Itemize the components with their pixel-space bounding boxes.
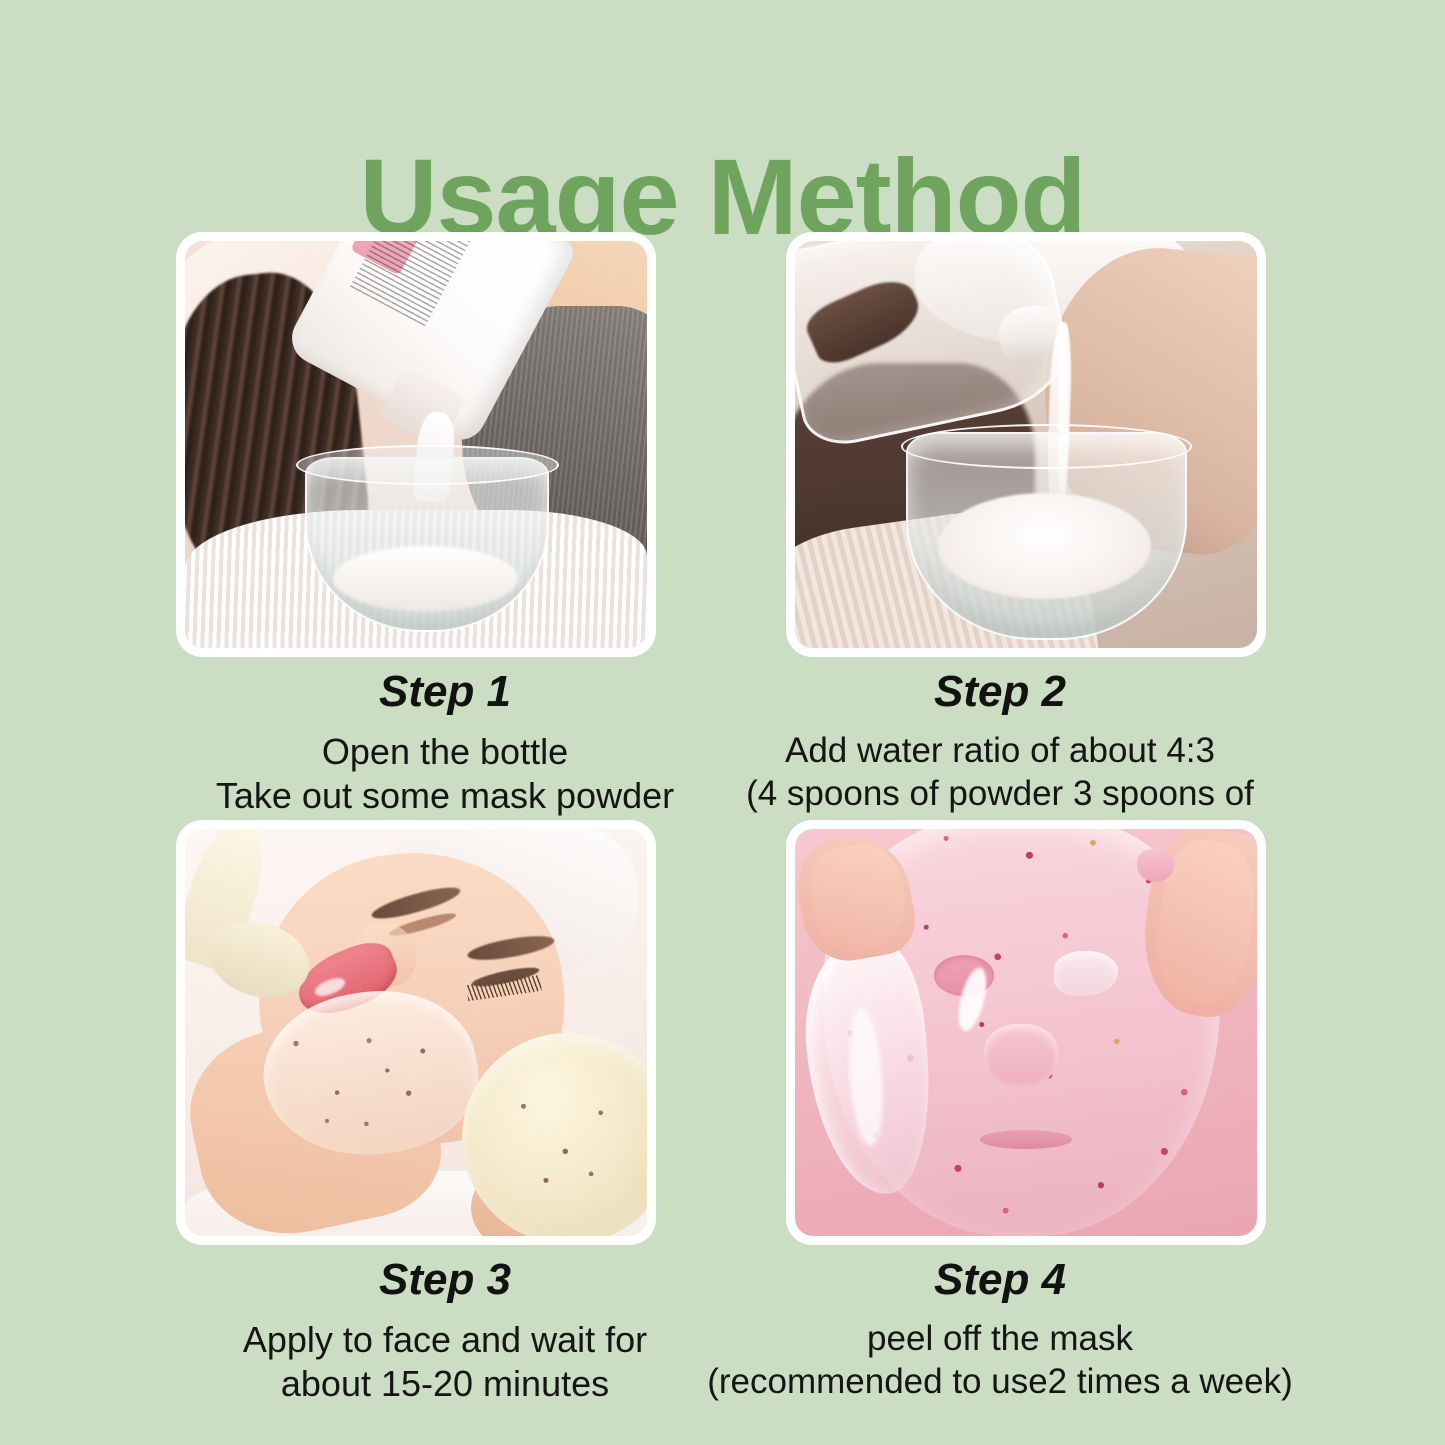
- pitcher-interior: [801, 270, 928, 369]
- mask-nose-hole: [984, 1024, 1058, 1085]
- step-3-photo-frame: [176, 820, 656, 1245]
- step-1-caption: Step 1 Open the bottle Take out some mas…: [145, 668, 745, 818]
- step-4-label: Step 4: [700, 1256, 1300, 1304]
- step-3-photo: [185, 829, 647, 1236]
- step-2-photo-frame: [786, 232, 1266, 657]
- step-4-photo: [795, 829, 1257, 1236]
- glass-bowl-rim: [296, 445, 559, 486]
- step-4-caption: Step 4 peel off the mask (recommended to…: [700, 1256, 1300, 1404]
- steps-grid: BULGARIAN ROSE JELLY MASK WHITEN & IMPRO…: [0, 232, 1445, 1432]
- bottle-fineprint: [349, 241, 480, 326]
- fingernail: [1137, 849, 1174, 882]
- bowl-powder: [333, 546, 518, 611]
- step-3-label: Step 3: [145, 1256, 745, 1304]
- step-1-label: Step 1: [145, 668, 745, 716]
- step-4-photo-frame: [786, 820, 1266, 1245]
- step-2-photo: [795, 241, 1257, 648]
- glass-bowl-rim: [901, 424, 1191, 469]
- step-3-caption: Step 3 Apply to face and wait for about …: [145, 1256, 745, 1406]
- mask-mouth-hole: [980, 1130, 1072, 1149]
- step-1-description: Open the bottle Take out some mask powde…: [145, 730, 745, 818]
- bowl-powder: [938, 493, 1151, 599]
- step-4-description: peel off the mask (recommended to use2 t…: [700, 1318, 1300, 1403]
- step-1-photo-frame: BULGARIAN ROSE JELLY MASK WHITEN & IMPRO…: [176, 232, 656, 657]
- step-3-description: Apply to face and wait for about 15-20 m…: [145, 1318, 745, 1406]
- step-2-label: Step 2: [700, 668, 1300, 716]
- step-1-photo: BULGARIAN ROSE JELLY MASK WHITEN & IMPRO…: [185, 241, 647, 648]
